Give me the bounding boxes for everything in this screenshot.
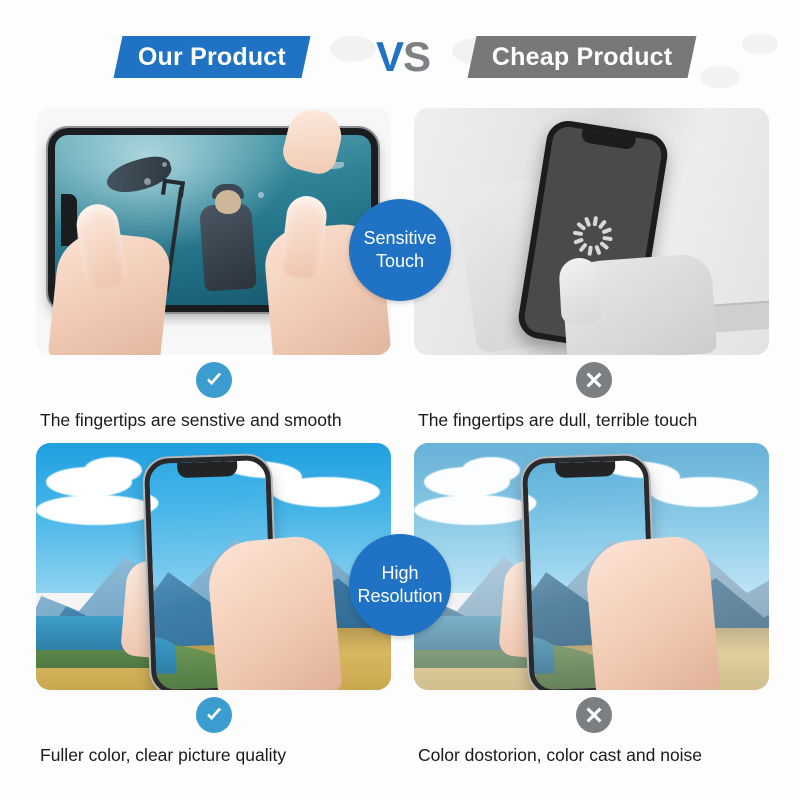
hand-holding-phone (205, 534, 342, 690)
our-product-label: Our Product (138, 43, 286, 72)
cross-icon (576, 362, 612, 398)
phone-notch (581, 129, 636, 150)
cell-sensitive-touch-good (36, 108, 391, 355)
cross-icon (576, 697, 612, 733)
vs-letter-v: V (376, 33, 403, 80)
caption-sensitive-touch-good: The fingertips are senstive and smooth (40, 410, 342, 431)
cloud (84, 457, 142, 483)
cloud (272, 477, 380, 507)
photo-mountain-vivid (36, 443, 391, 690)
badge-line-1: Sensitive (363, 227, 436, 250)
cell-high-resolution-bad (414, 443, 769, 690)
cell-sensitive-touch-bad (414, 108, 769, 355)
check-icon (196, 697, 232, 733)
header: Our Product VS Cheap Product (0, 28, 800, 90)
cheap-product-label: Cheap Product (492, 43, 672, 72)
phone-notch (555, 461, 615, 478)
finger-tapping (558, 257, 601, 325)
photo-mountain-dull (414, 443, 769, 690)
cloud (650, 477, 758, 507)
badge-line-2: Touch (376, 250, 424, 273)
caption-high-resolution-good: Fuller color, clear picture quality (40, 745, 286, 766)
badge-line-1: High (381, 562, 418, 585)
vs-label: VS (376, 30, 430, 84)
check-icon (196, 362, 232, 398)
photo-game-phone (36, 108, 391, 355)
photo-loading-phone (414, 108, 769, 355)
vs-letter-s: S (403, 33, 430, 80)
feature-badge-sensitive-touch: Sensitive Touch (349, 199, 451, 301)
caption-high-resolution-bad: Color dostorion, color cast and noise (418, 745, 702, 766)
our-product-banner: Our Product (114, 36, 311, 78)
cell-high-resolution-good (36, 443, 391, 690)
feature-badge-high-resolution: High Resolution (349, 534, 451, 636)
cloud (36, 495, 156, 525)
cheap-product-banner: Cheap Product (468, 36, 697, 78)
phone-notch (61, 194, 77, 246)
hand-holding-phone (583, 534, 720, 690)
loading-spinner-icon (570, 213, 616, 259)
badge-line-2: Resolution (357, 585, 442, 608)
caption-sensitive-touch-bad: The fingertips are dull, terrible touch (418, 410, 697, 431)
comparison-infographic: Our Product VS Cheap Product (0, 0, 800, 800)
phone-notch (177, 461, 237, 478)
cloud (462, 457, 520, 483)
cloud (414, 495, 534, 525)
